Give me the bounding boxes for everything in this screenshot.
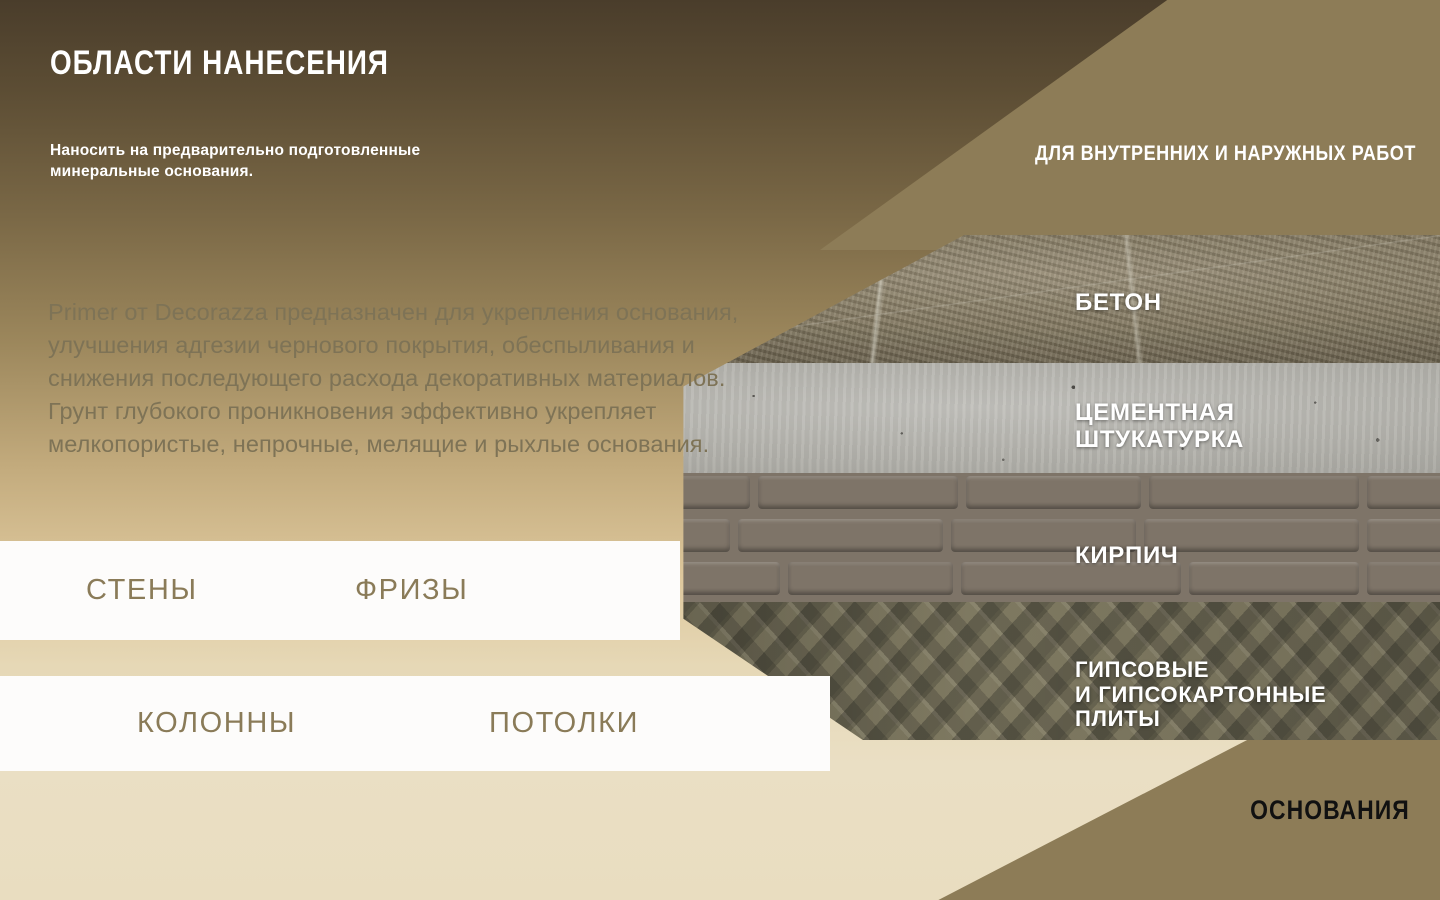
application-areas-row-1: СТЕНЫ ФРИЗЫ bbox=[0, 541, 680, 640]
layer-label-brick: КИРПИЧ bbox=[1075, 543, 1178, 570]
layer-brick bbox=[660, 473, 1440, 602]
application-area-friezes: ФРИЗЫ bbox=[355, 574, 468, 607]
usage-scope-headline: ДЛЯ ВНУТРЕННИХ И НАРУЖНЫХ РАБОТ bbox=[1035, 140, 1416, 168]
layer-label-cement-plaster: ЦЕМЕНТНАЯ ШТУКАТУРКА bbox=[1075, 400, 1244, 454]
substrates-footer-label: ОСНОВАНИЯ bbox=[1250, 795, 1410, 826]
application-area-walls: СТЕНЫ bbox=[86, 574, 198, 607]
layer-label-gypsum-board: ГИПСОВЫЕ И ГИПСОКАРТОННЫЕ ПЛИТЫ bbox=[1075, 658, 1326, 732]
application-areas-row-2: КОЛОННЫ ПОТОЛКИ bbox=[0, 676, 830, 771]
application-area-ceilings: ПОТОЛКИ bbox=[489, 707, 639, 740]
application-area-columns: КОЛОННЫ bbox=[137, 707, 296, 740]
layer-label-concrete: БЕТОН bbox=[1075, 290, 1162, 317]
slide-root: БЕТОН ЦЕМЕНТНАЯ ШТУКАТУРКА КИРПИЧ ГИПСОВ… bbox=[0, 0, 1440, 900]
lead-text: Наносить на предварительно подготовленны… bbox=[50, 140, 470, 183]
body-paragraph: Primer от Decorazza предназначен для укр… bbox=[48, 296, 788, 460]
page-title: ОБЛАСТИ НАНЕСЕНИЯ bbox=[50, 44, 389, 83]
